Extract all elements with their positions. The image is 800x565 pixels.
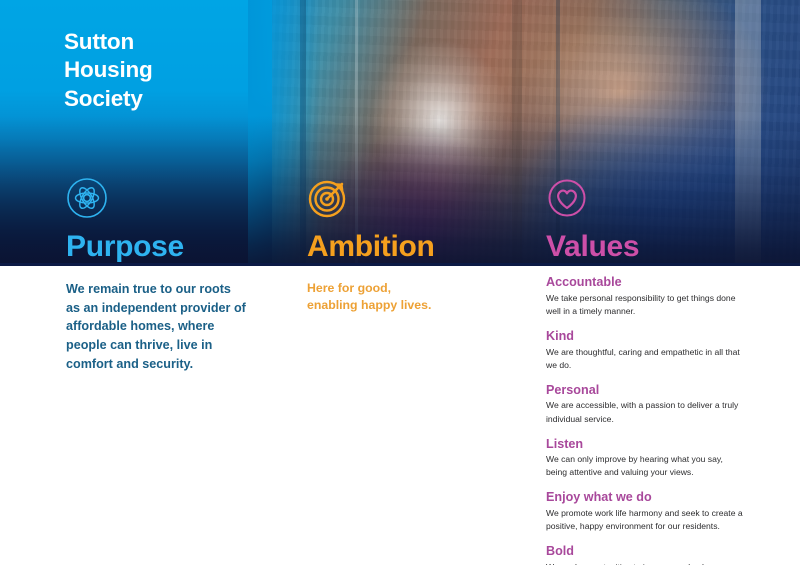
list-item: Accountable We take personal responsibil… — [546, 275, 756, 318]
hero-banner: Sutton Housing Society Purpose — [0, 0, 800, 266]
logo-line-2: Housing — [64, 56, 153, 84]
value-title: Bold — [546, 544, 756, 560]
column-ambition: Here for good, enabling happy lives. — [307, 266, 517, 315]
list-item: Listen We can only improve by hearing wh… — [546, 437, 756, 480]
purpose-body-text: We remain true to our roots as an indepe… — [66, 280, 246, 373]
list-item: Enjoy what we do We promote work life ha… — [546, 490, 756, 533]
list-item: Personal We are accessible, with a passi… — [546, 383, 756, 426]
ambition-body-text: Here for good, enabling happy lives. — [307, 280, 517, 315]
pillar-header-ambition: Ambition — [307, 177, 435, 262]
list-item: Kind We are thoughtful, caring and empat… — [546, 329, 756, 372]
value-description: We take personal responsibility to get t… — [546, 292, 746, 318]
target-arrow-icon — [307, 177, 435, 224]
list-item: Bold We seek opportunities to improve an… — [546, 544, 756, 565]
value-description: We are accessible, with a passion to del… — [546, 399, 746, 425]
value-title: Listen — [546, 437, 756, 453]
column-values: Accountable We take personal responsibil… — [546, 266, 756, 565]
value-description: We promote work life harmony and seek to… — [546, 507, 746, 533]
brand-logo: Sutton Housing Society — [64, 28, 153, 113]
pillar-header-purpose: Purpose — [66, 177, 184, 262]
pillar-title-ambition: Ambition — [307, 232, 435, 262]
logo-line-1: Sutton — [64, 28, 153, 56]
atom-icon — [66, 177, 184, 224]
content-columns: We remain true to our roots as an indepe… — [0, 266, 800, 565]
value-title: Accountable — [546, 275, 756, 291]
value-description: We are thoughtful, caring and empathetic… — [546, 346, 746, 372]
value-title: Enjoy what we do — [546, 490, 756, 506]
pillar-header-values: Values — [546, 177, 639, 262]
value-description: We can only improve by hearing what you … — [546, 453, 746, 479]
value-description: We seek opportunities to improve and enh… — [546, 561, 746, 565]
brochure-page: Sutton Housing Society Purpose — [0, 0, 800, 565]
value-title: Personal — [546, 383, 756, 399]
column-purpose: We remain true to our roots as an indepe… — [66, 266, 246, 373]
pillar-title-purpose: Purpose — [66, 232, 184, 262]
pillar-title-values: Values — [546, 232, 639, 262]
values-list: Accountable We take personal responsibil… — [546, 275, 756, 565]
heart-in-circle-icon — [546, 177, 639, 224]
value-title: Kind — [546, 329, 756, 345]
logo-line-3: Society — [64, 85, 153, 113]
